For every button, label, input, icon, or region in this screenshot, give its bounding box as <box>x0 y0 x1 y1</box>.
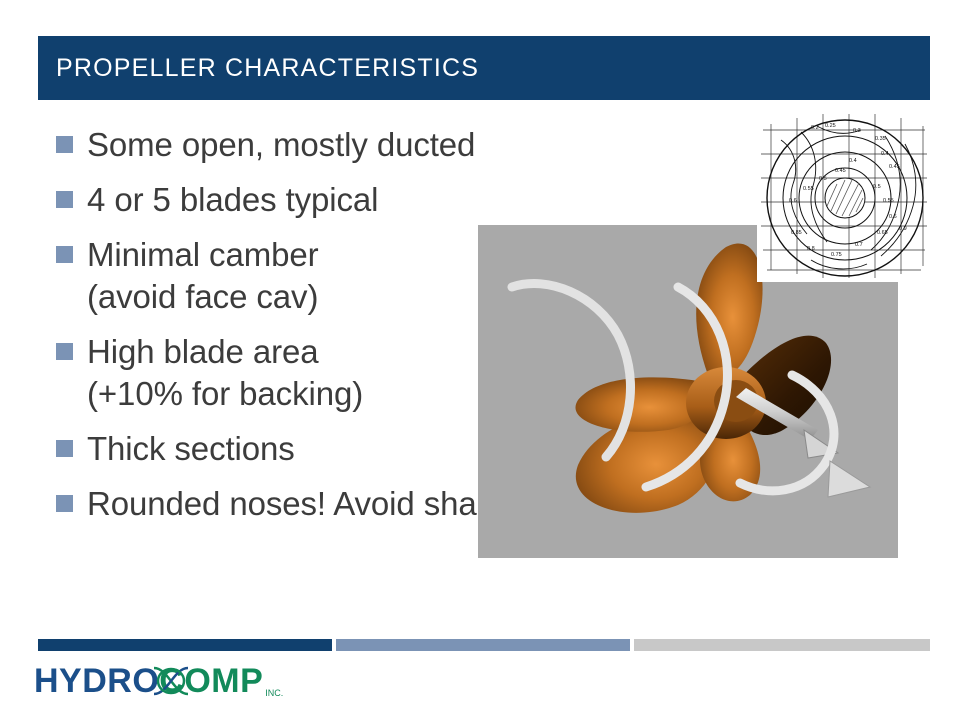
bullet-text: 4 or 5 blades typical <box>87 179 378 221</box>
svg-text:0.45: 0.45 <box>835 168 846 174</box>
bullet-line-1: High blade area <box>87 333 319 370</box>
bullet-text: Minimal camber (avoid face cav) <box>87 234 319 318</box>
bullet-line-1: Thick sections <box>87 430 295 467</box>
bullet-text: Thick sections <box>87 428 295 470</box>
list-item: 4 or 5 blades typical <box>56 179 796 221</box>
bullet-line-2: (avoid face cav) <box>87 276 319 318</box>
wake-contour-diagram: 0.2 0.25 0.3 0.35 0.4 0.45 0.4 0.45 0.5 … <box>757 110 930 282</box>
bullet-text: Some open, mostly ducted <box>87 124 475 166</box>
logo-hydro-text: HYDRO <box>34 662 159 701</box>
svg-text:0.2: 0.2 <box>811 125 819 131</box>
square-bullet-icon <box>56 495 73 512</box>
svg-text:0.25: 0.25 <box>825 123 836 129</box>
svg-text:0.8: 0.8 <box>807 246 815 252</box>
slide-canvas: PROPELLER CHARACTERISTICS Some open, mos… <box>0 0 960 720</box>
svg-text:0.35: 0.35 <box>875 136 886 142</box>
logo-helix-icon <box>150 662 192 700</box>
footer-bar-dark <box>38 639 332 651</box>
svg-text:0.45: 0.45 <box>889 164 900 170</box>
svg-text:0.65: 0.65 <box>877 230 888 236</box>
bullet-line-1: 4 or 5 blades typical <box>87 181 378 218</box>
square-bullet-icon <box>56 343 73 360</box>
page-title: PROPELLER CHARACTERISTICS <box>56 54 479 83</box>
svg-text:0.6: 0.6 <box>889 214 897 220</box>
square-bullet-icon <box>56 246 73 263</box>
svg-text:0.55: 0.55 <box>883 198 894 204</box>
square-bullet-icon <box>56 136 73 153</box>
list-item: Some open, mostly ducted <box>56 124 796 166</box>
bullet-line-1: Some open, mostly ducted <box>87 126 475 163</box>
footer-bar-mid <box>336 639 630 651</box>
svg-text:0.9: 0.9 <box>899 226 907 232</box>
svg-text:0.5: 0.5 <box>873 184 881 190</box>
square-bullet-icon <box>56 440 73 457</box>
svg-text:0.7: 0.7 <box>855 242 863 248</box>
bullet-line-2: (+10% for backing) <box>87 373 363 415</box>
footer-bar-light <box>634 639 930 651</box>
bullet-line-1: Minimal camber <box>87 236 319 273</box>
svg-text:0.4: 0.4 <box>881 151 889 157</box>
svg-text:0.4: 0.4 <box>849 158 857 164</box>
svg-text:0.55: 0.55 <box>803 186 814 192</box>
square-bullet-icon <box>56 191 73 208</box>
svg-text:0.75: 0.75 <box>831 252 842 258</box>
svg-text:0.3: 0.3 <box>853 128 861 134</box>
svg-text:0.6: 0.6 <box>789 198 797 204</box>
svg-text:0.85: 0.85 <box>791 230 802 236</box>
svg-text:0.5: 0.5 <box>819 176 827 182</box>
logo-inc-text: INC. <box>263 688 283 704</box>
bullet-text: High blade area (+10% for backing) <box>87 331 363 415</box>
